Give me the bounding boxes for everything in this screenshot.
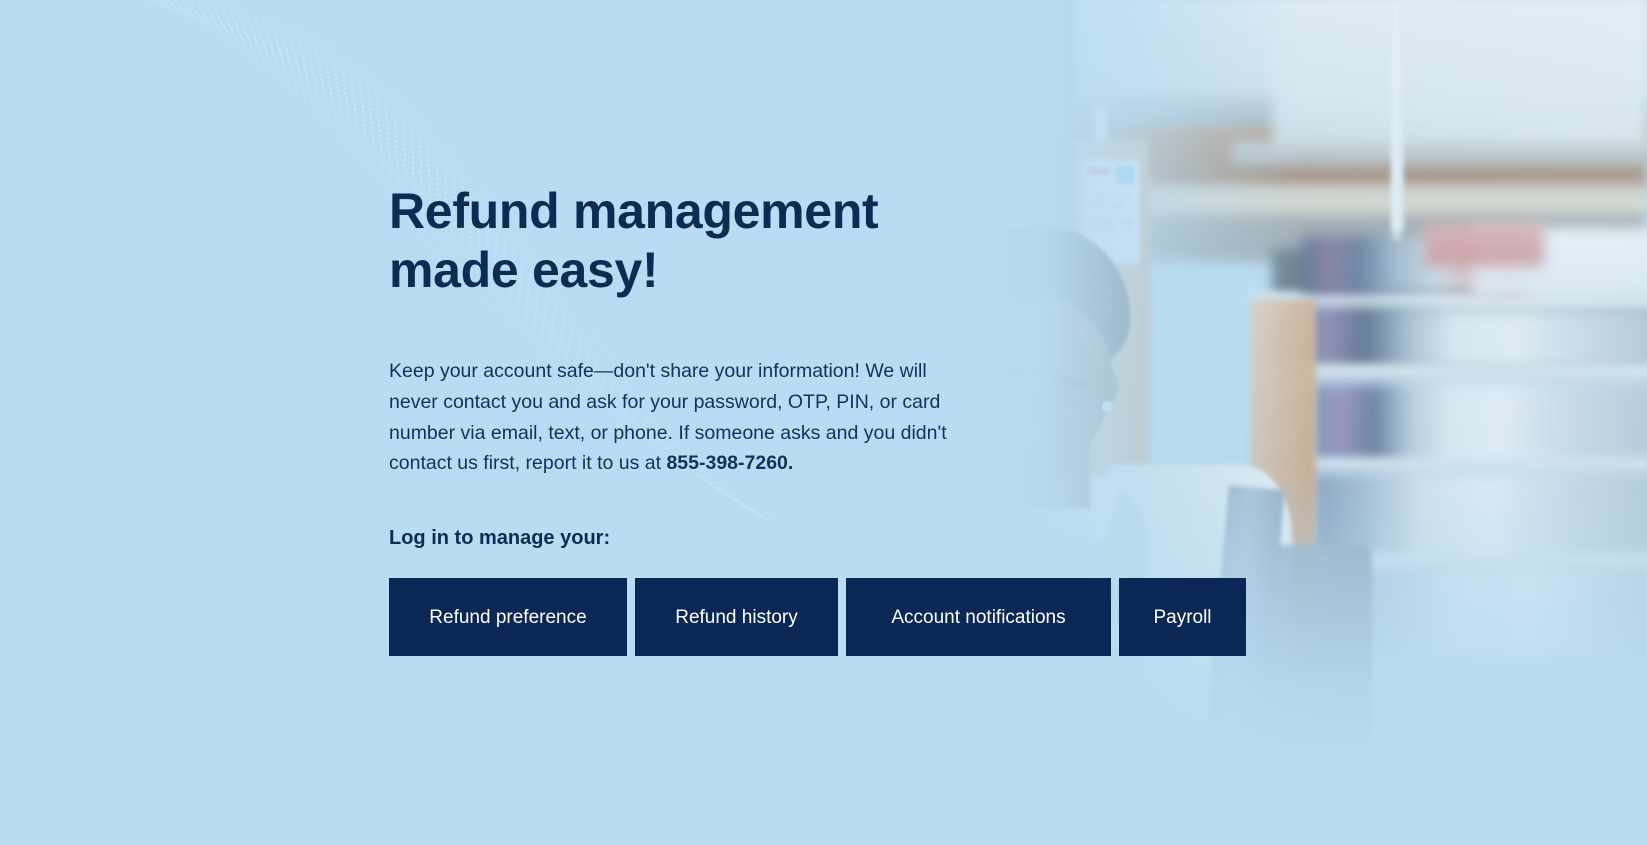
red-accent-panel [1424, 222, 1544, 266]
account-notifications-button[interactable]: Account notifications [846, 578, 1111, 656]
headline-line-1: Refund management [389, 183, 878, 239]
payroll-button[interactable]: Payroll [1119, 578, 1246, 656]
books-row-3 [1312, 384, 1647, 464]
ceiling-white-panel [1272, 0, 1647, 150]
login-action-buttons: Refund preference Refund history Account… [389, 578, 1246, 656]
ceiling-rod-4 [1392, 40, 1402, 240]
refund-management-hero: Refund management made easy! Keep your a… [0, 0, 1647, 845]
ceiling-edge [1232, 140, 1647, 166]
refund-preference-button[interactable]: Refund preference [389, 578, 627, 656]
hero-content: Refund management made easy! Keep your a… [389, 0, 1089, 845]
page-title: Refund management made easy! [389, 182, 949, 300]
support-phone-number: 855-398-7260. [666, 452, 793, 474]
login-prompt-label: Log in to manage your: [389, 527, 610, 550]
refund-history-button[interactable]: Refund history [635, 578, 838, 656]
security-notice-paragraph: Keep your account safe—don't share your … [389, 356, 969, 479]
headline-line-2: made easy! [389, 242, 658, 298]
earring [1102, 401, 1113, 412]
ear [1092, 365, 1118, 405]
